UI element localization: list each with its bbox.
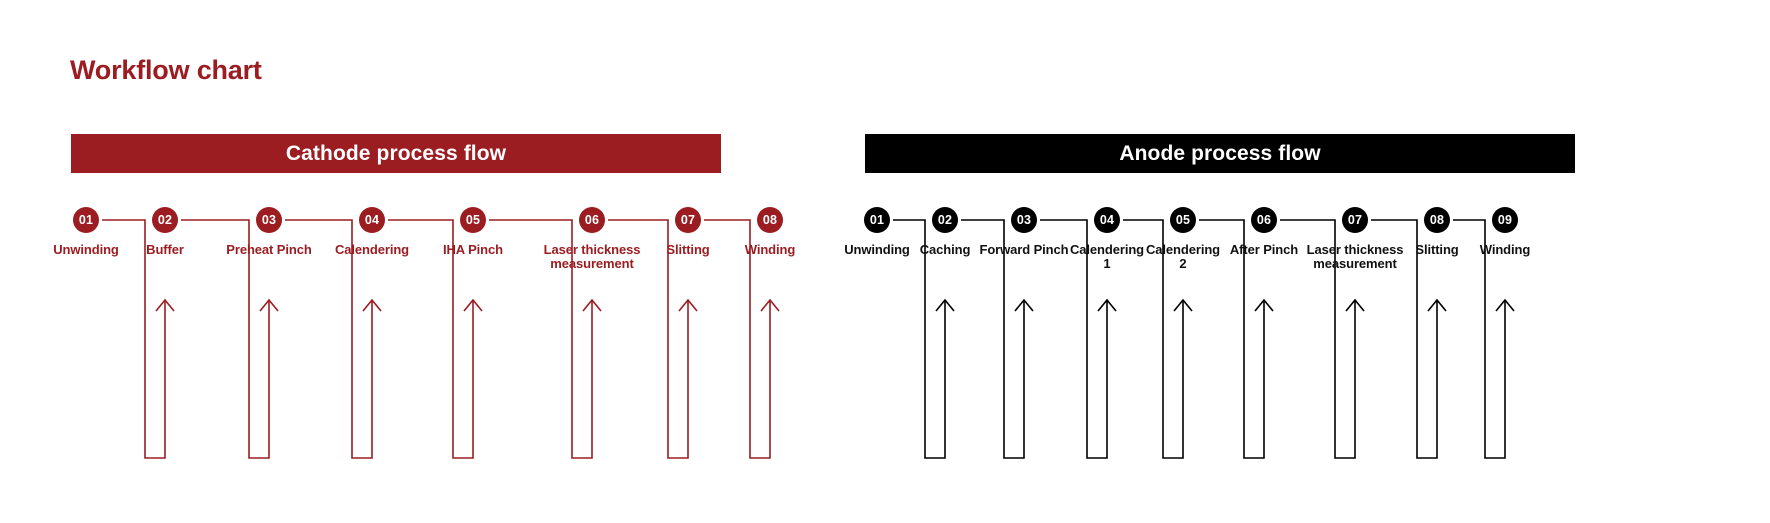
step-label: Buffer — [105, 243, 225, 257]
step-number-badge: 08 — [757, 207, 783, 233]
step-label: Winding — [1445, 243, 1565, 257]
flow-arrow-head-icon — [761, 300, 779, 311]
step-number-badge: 06 — [579, 207, 605, 233]
flow-arrow-head-icon — [583, 300, 601, 311]
step-number-badge: 05 — [1170, 207, 1196, 233]
step-number-badge: 01 — [73, 207, 99, 233]
cathode-flow-header: Cathode process flow — [71, 134, 721, 173]
step-number-badge: 09 — [1492, 207, 1518, 233]
flow-arrow-head-icon — [1015, 300, 1033, 311]
flow-arrow-head-icon — [156, 300, 174, 311]
flow-arrow-head-icon — [260, 300, 278, 311]
cathode-flow-section: Cathode process flow 01Unwinding02Buffer… — [0, 0, 810, 523]
flow-arrow-head-icon — [1255, 300, 1273, 311]
flow-arrow-head-icon — [464, 300, 482, 311]
step-number-badge: 07 — [1342, 207, 1368, 233]
step-node[interactable]: 05IHA Pinch — [413, 207, 533, 257]
anode-flow-section: Anode process flow 01Unwinding02Caching0… — [860, 0, 1770, 523]
step-label: Winding — [710, 243, 830, 257]
step-number-badge: 02 — [932, 207, 958, 233]
flow-arrow-head-icon — [1496, 300, 1514, 311]
flow-arrow-head-icon — [1346, 300, 1364, 311]
flow-arrow-head-icon — [1174, 300, 1192, 311]
step-number-badge: 06 — [1251, 207, 1277, 233]
flow-arrow-head-icon — [363, 300, 381, 311]
step-node[interactable]: 03Preheat Pinch — [209, 207, 329, 257]
step-label: Preheat Pinch — [209, 243, 329, 257]
step-node[interactable]: 08Winding — [710, 207, 830, 257]
step-number-badge: 04 — [1094, 207, 1120, 233]
step-node[interactable]: 02Buffer — [105, 207, 225, 257]
flow-arrow-head-icon — [936, 300, 954, 311]
flow-arrow-head-icon — [1428, 300, 1446, 311]
step-node[interactable]: 09Winding — [1445, 207, 1565, 257]
flow-arrow-head-icon — [679, 300, 697, 311]
step-number-badge: 05 — [460, 207, 486, 233]
cathode-connector-lines — [0, 0, 810, 523]
step-number-badge: 02 — [152, 207, 178, 233]
anode-flow-header: Anode process flow — [865, 134, 1575, 173]
step-number-badge: 03 — [256, 207, 282, 233]
step-label: IHA Pinch — [413, 243, 533, 257]
step-number-badge: 04 — [359, 207, 385, 233]
flow-arrow-head-icon — [1098, 300, 1116, 311]
step-number-badge: 03 — [1011, 207, 1037, 233]
step-number-badge: 07 — [675, 207, 701, 233]
